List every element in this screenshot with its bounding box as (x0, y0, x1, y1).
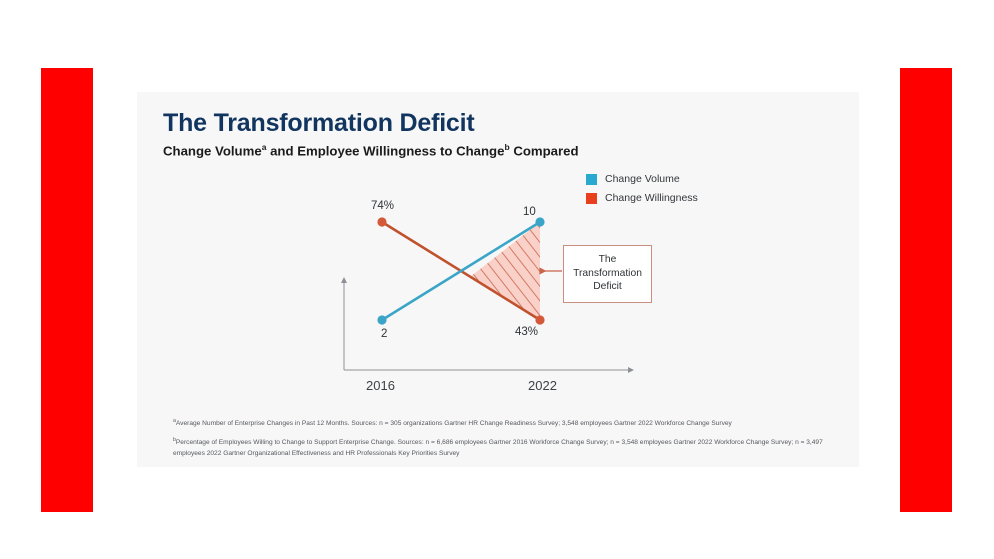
point-change-volume-2016 (377, 315, 386, 324)
transformation-deficit-region (470, 222, 540, 320)
right-red-bar (900, 68, 952, 512)
data-label-willingness-2022: 43% (515, 326, 538, 338)
callout-line-1: The (568, 253, 647, 267)
slide-panel: The Transformation Deficit Change Volume… (137, 92, 859, 467)
page-subtitle: Change Volumea and Employee Willingness … (163, 142, 579, 158)
footnotes: aAverage Number of Enterprise Changes in… (173, 417, 833, 465)
x-axis-tick-2016: 2016 (366, 378, 395, 393)
callout-line-3: Deficit (568, 280, 647, 294)
transformation-deficit-chart: 2016 2022 74% 43% 2 10 The Transformatio… (163, 170, 835, 400)
data-label-willingness-2016: 74% (371, 200, 394, 212)
page-title: The Transformation Deficit (163, 109, 475, 138)
point-change-willingness-2022 (535, 315, 544, 324)
footnote-a-text: Average Number of Enterprise Changes in … (176, 420, 732, 427)
data-label-volume-2022: 10 (523, 206, 536, 218)
footnote-b-text: Percentage of Employees Willing to Chang… (173, 439, 823, 457)
point-change-volume-2022 (535, 217, 544, 226)
left-red-bar (41, 68, 93, 512)
footnote-b: bPercentage of Employees Willing to Chan… (173, 436, 833, 460)
subtitle-part-middle: and Employee Willingness to Change (266, 143, 504, 158)
point-change-willingness-2016 (377, 217, 386, 226)
transformation-deficit-callout: The Transformation Deficit (563, 245, 652, 303)
x-axis-tick-2022: 2022 (528, 378, 557, 393)
subtitle-part-compared: Compared (510, 143, 579, 158)
footnote-a: aAverage Number of Enterprise Changes in… (173, 417, 833, 430)
subtitle-part-volume: Change Volume (163, 143, 262, 158)
data-label-volume-2016: 2 (381, 328, 387, 340)
callout-line-2: Transformation (568, 267, 647, 281)
chart-svg (163, 170, 835, 400)
